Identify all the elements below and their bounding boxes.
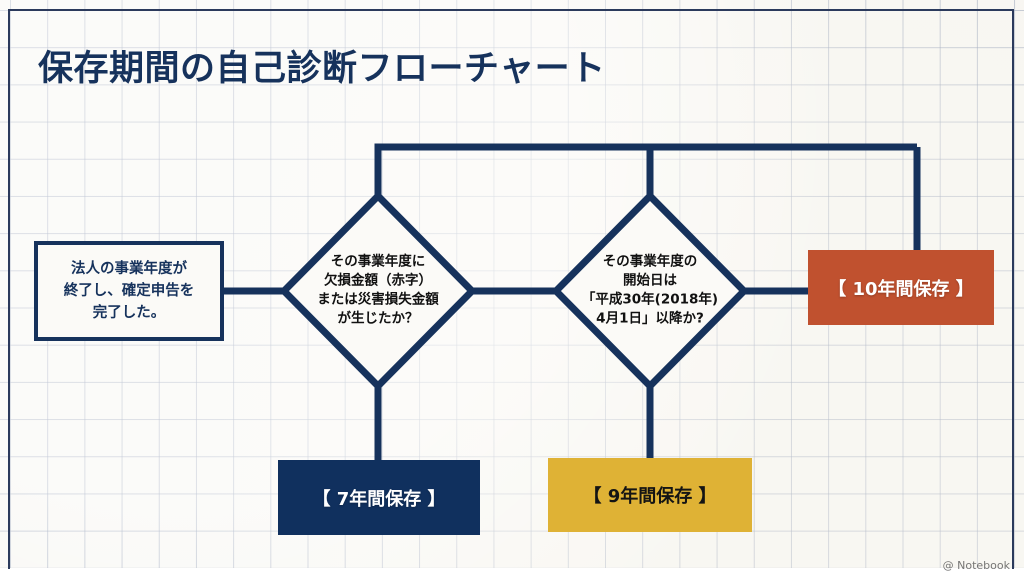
decision-2-label: その事業年度の 開始日は 「平成30年(2018年) 4月1日」以降か? xyxy=(582,253,718,330)
start-line-2: 終了し、確定申告を xyxy=(64,280,195,302)
decision-1-line-1: その事業年度に xyxy=(317,253,439,272)
decision-1-line-4: が生じたか？ xyxy=(317,310,439,329)
result-node-7-years[interactable]: 【 7年間保存 】 xyxy=(278,460,480,535)
decision-2-line-1: その事業年度の xyxy=(582,253,718,272)
start-line-3: 完了した。 xyxy=(64,302,195,324)
decision-2-line-3: 「平成30年(2018年) xyxy=(582,291,718,310)
decision-1-line-2: 欠損金額（赤字） xyxy=(317,272,439,291)
result-node-10-years[interactable]: 【 10年間保存 】 xyxy=(808,250,994,325)
start-node[interactable]: 法人の事業年度が 終了し、確定申告を 完了した。 xyxy=(34,241,224,341)
decision-2-line-2: 開始日は xyxy=(582,272,718,291)
decision-1-label: その事業年度に 欠損金額（赤字） または災害損失金額 が生じたか？ xyxy=(317,253,439,330)
flowchart-canvas: 保存期間の自己診断フローチャート 法人の xyxy=(0,0,1024,568)
result-node-9-years[interactable]: 【 9年間保存 】 xyxy=(548,458,752,532)
start-line-1: 法人の事業年度が xyxy=(64,258,195,280)
decision-1-line-3: または災害損失金額 xyxy=(317,291,439,310)
decision-2-line-4: 4月1日」以降か? xyxy=(582,310,718,329)
watermark: @ Notebook xyxy=(943,559,1010,572)
